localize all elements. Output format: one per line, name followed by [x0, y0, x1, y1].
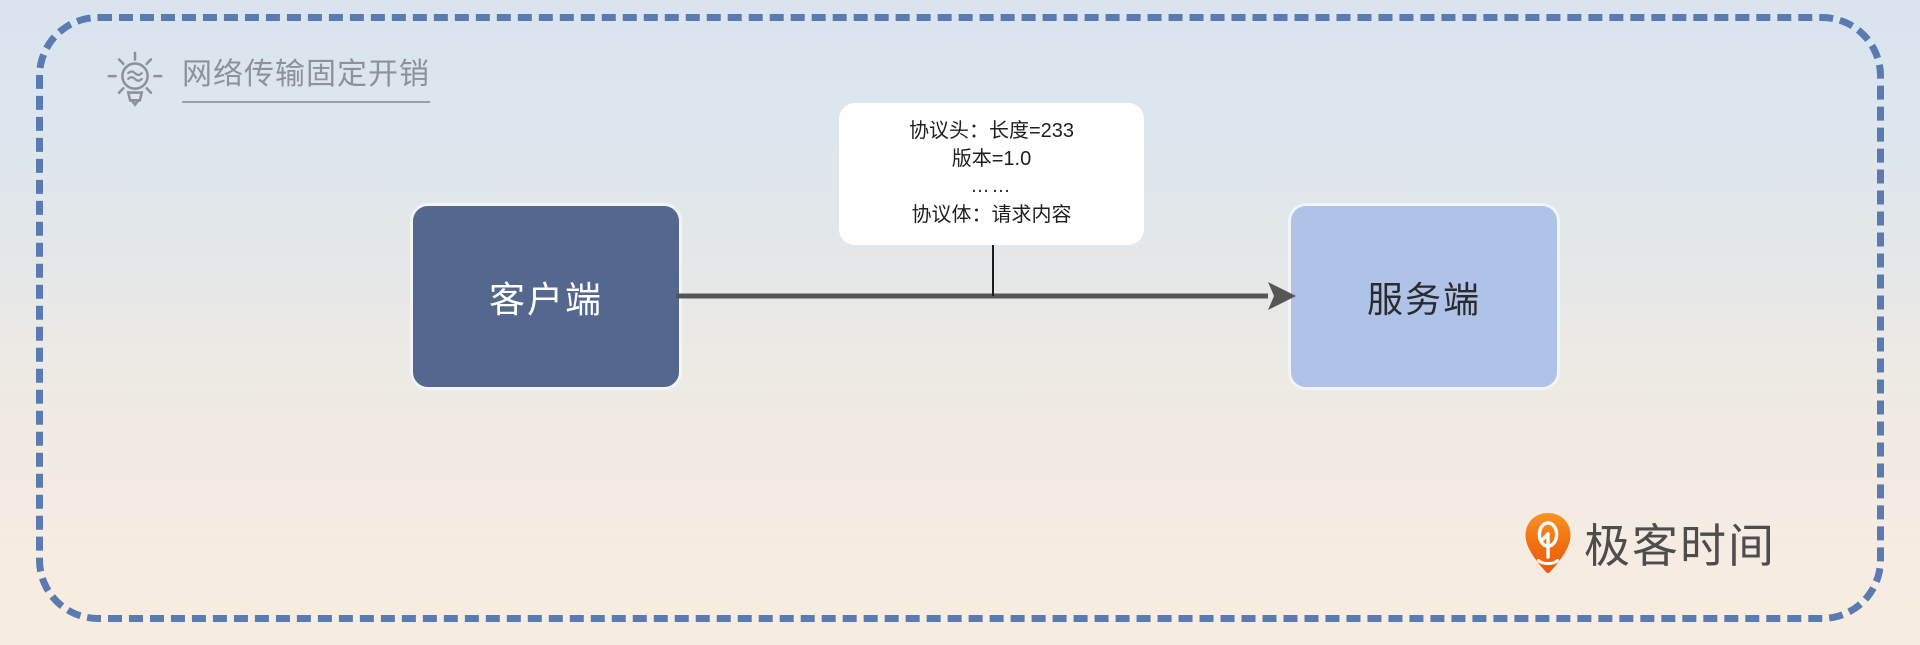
node-client[interactable]: 客户端 [410, 203, 682, 390]
lightbulb-icon [104, 48, 166, 110]
brand-watermark: 极客时间 [1524, 510, 1776, 576]
diagram-title-row: 网络传输固定开销 [104, 48, 430, 110]
node-server-label: 服务端 [1367, 271, 1481, 323]
arrow-client-to-server [676, 272, 1296, 320]
geektime-logo-icon [1524, 512, 1572, 574]
node-client-label: 客户端 [489, 271, 603, 323]
protocol-line-ellipsis: …… [857, 174, 1126, 201]
protocol-callout: 协议头：长度=233 版本=1.0 …… 协议体：请求内容 [839, 103, 1144, 245]
diagram-canvas: 网络传输固定开销 客户端 服务端 协议头：长度=233 版本=1.0 …… 协议… [0, 0, 1920, 645]
protocol-line-version: 版本=1.0 [857, 145, 1126, 173]
page-title: 网络传输固定开销 [182, 55, 430, 103]
node-server[interactable]: 服务端 [1288, 203, 1560, 390]
protocol-line-body: 协议体：请求内容 [857, 201, 1126, 229]
protocol-line-header: 协议头：长度=233 [857, 117, 1126, 145]
brand-name: 极客时间 [1584, 510, 1776, 576]
